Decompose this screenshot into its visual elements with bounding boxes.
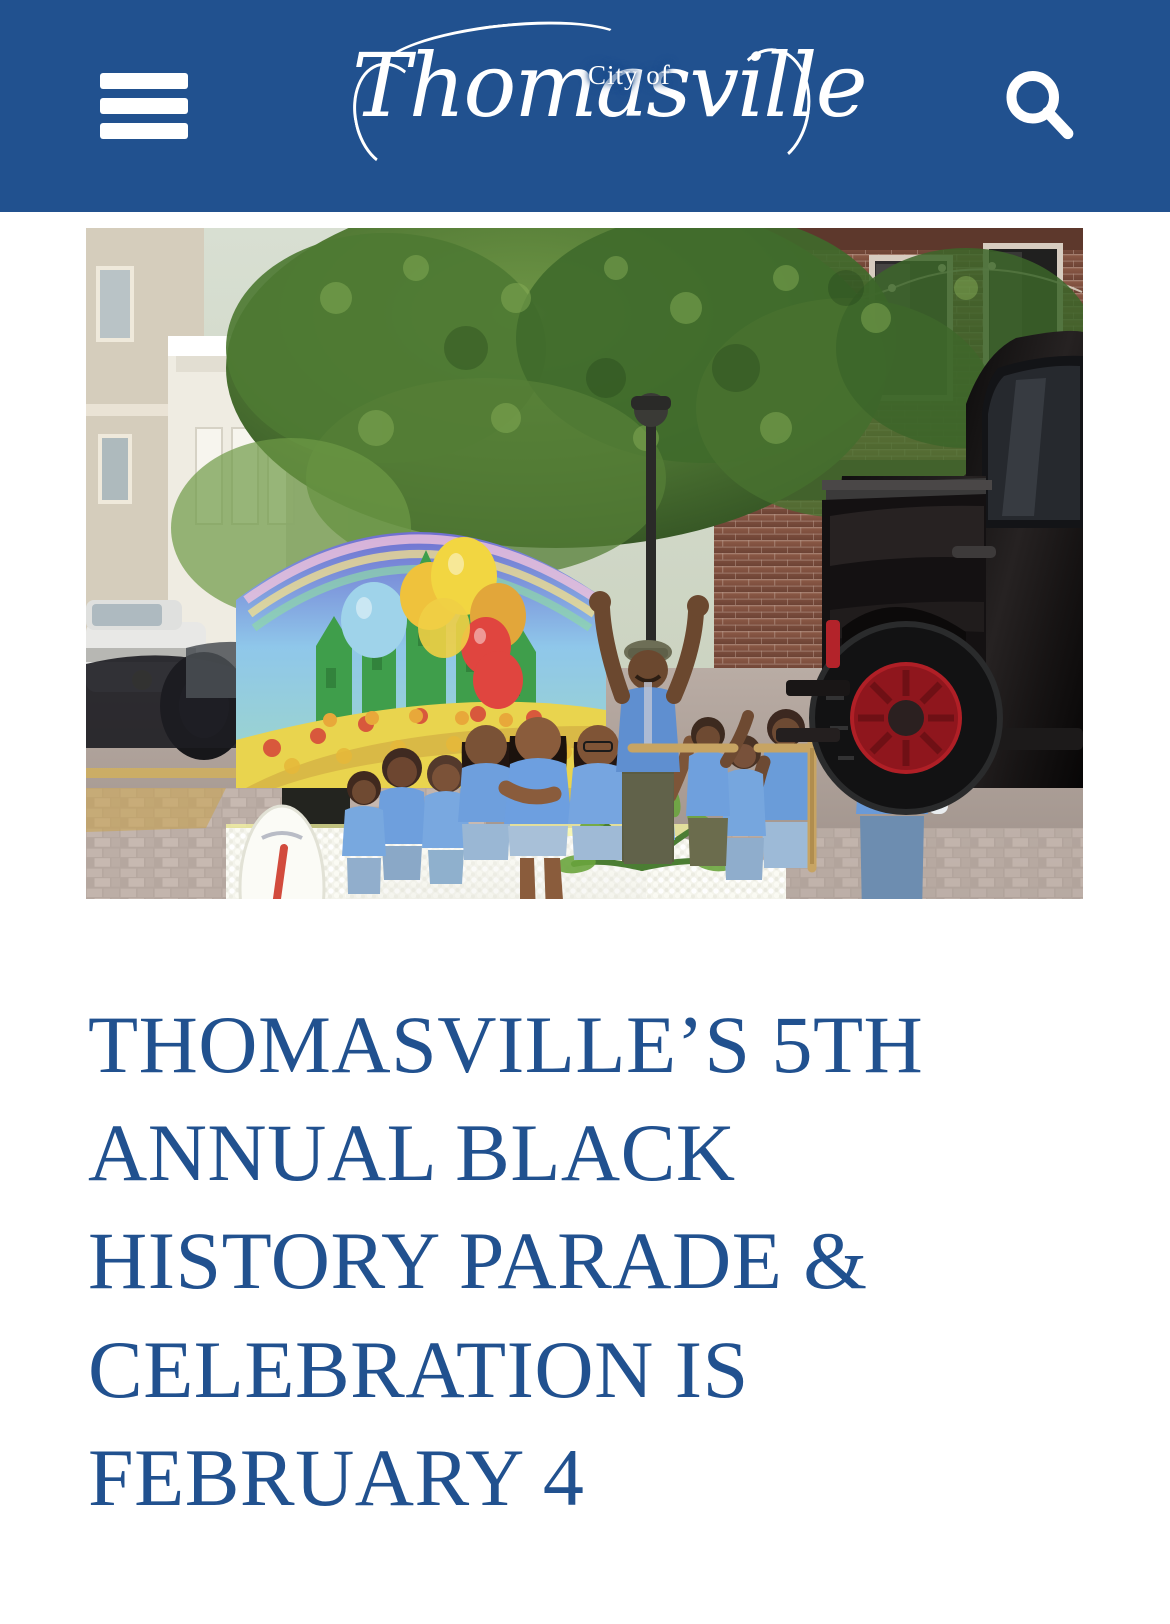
parade-photo: Step N Stones: [86, 228, 1083, 899]
article: Step N Stones: [0, 228, 1170, 1532]
featured-image: Step N Stones: [86, 228, 1083, 899]
site-logo-link[interactable]: Thomasville City of: [168, 26, 996, 186]
search-icon[interactable]: [996, 63, 1082, 149]
site-header: Thomasville City of: [0, 0, 1170, 212]
logo-pretext: City of: [588, 60, 671, 91]
site-logo: Thomasville City of: [352, 26, 812, 186]
page-title: Thomasville’s 5th Annual Black History P…: [88, 991, 1048, 1532]
